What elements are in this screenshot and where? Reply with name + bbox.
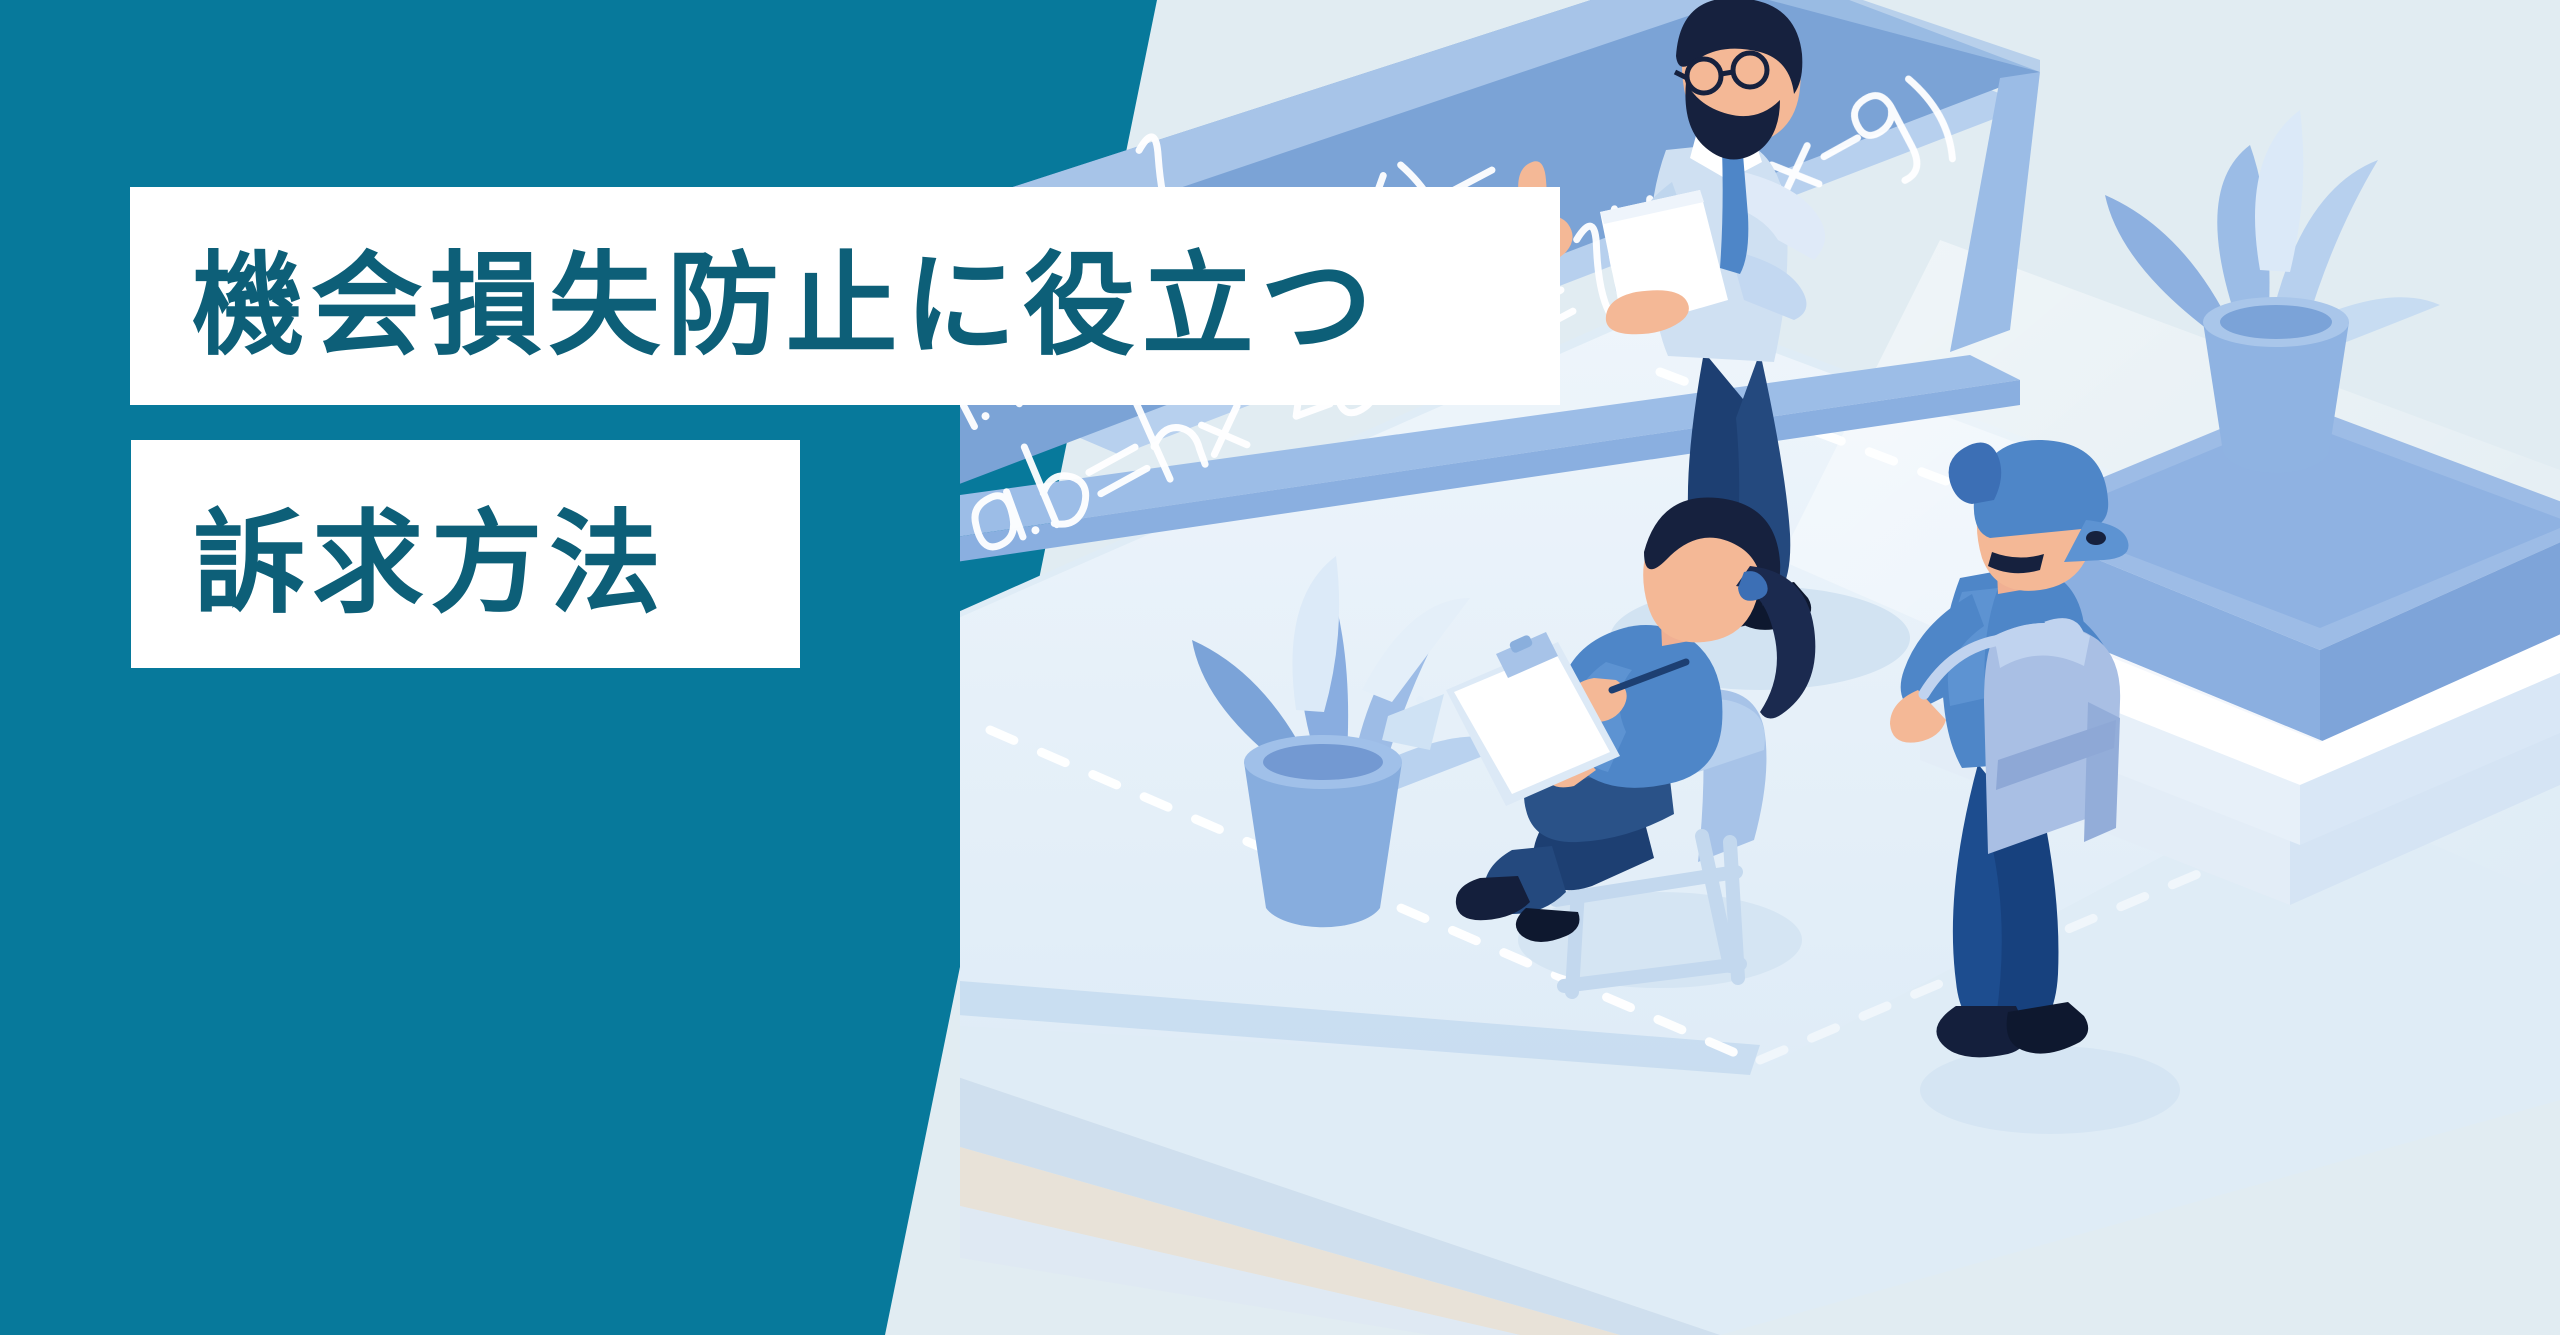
poster-canvas: 機会損失防止に役立つ 訴求方法 <box>0 0 2560 1335</box>
title-line-2: 訴求方法 <box>193 473 668 635</box>
title-band-secondary: 訴求方法 <box>131 440 800 668</box>
title-band-primary: 機会損失防止に役立つ <box>130 187 1560 405</box>
title-line-1: 機会損失防止に役立つ <box>192 215 1379 377</box>
